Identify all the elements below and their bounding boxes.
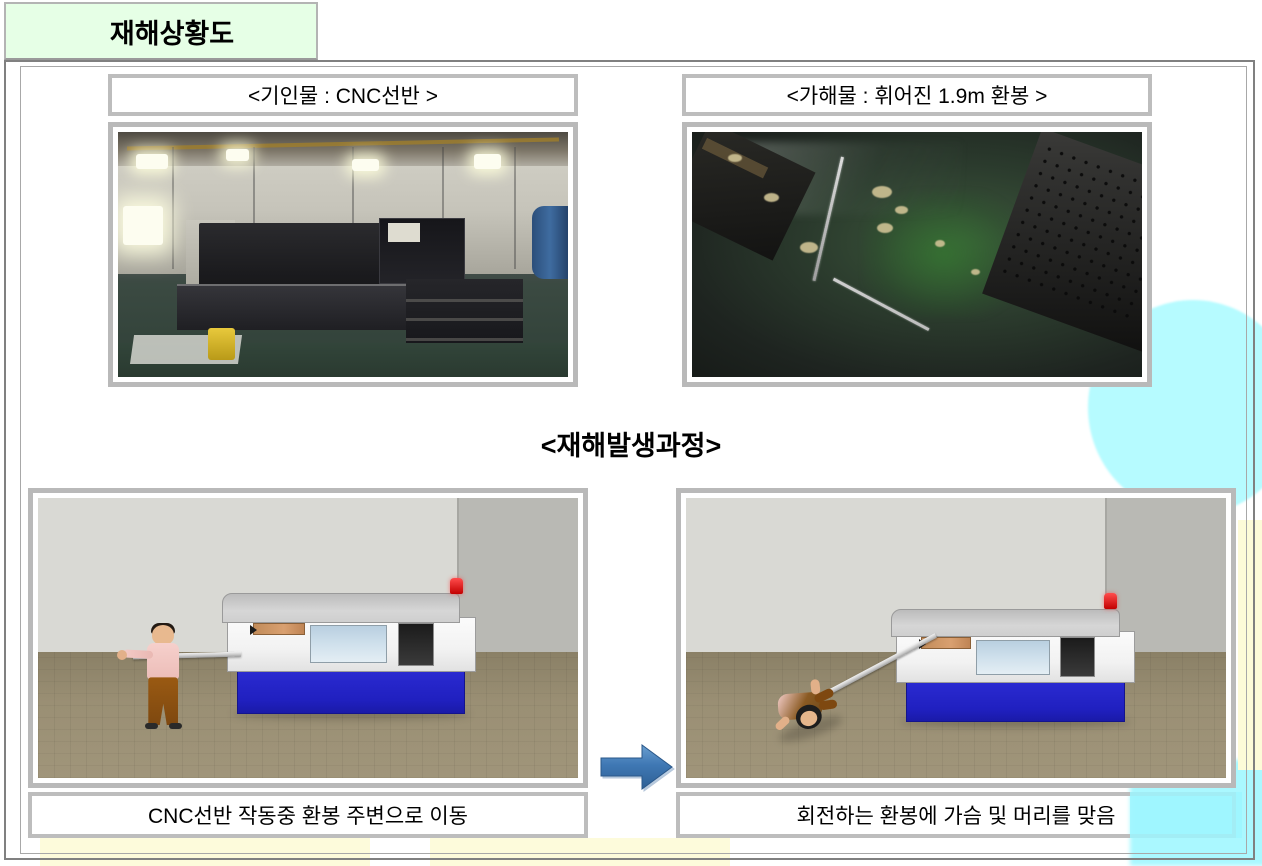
scene-worker-struck-fallen xyxy=(676,488,1236,788)
sequence-heading: <재해발생과정> xyxy=(0,424,1262,463)
right-arrow-icon xyxy=(598,742,676,792)
bent-round-bar-photo xyxy=(682,122,1152,387)
evidence-caption-text: <가해물 : 휘어진 1.9m 환봉 > xyxy=(787,80,1048,110)
evidence-caption-harmful-object: <가해물 : 휘어진 1.9m 환봉 > xyxy=(682,74,1152,116)
worker-figure-standing xyxy=(143,625,185,731)
accident-diagram-page: 재해상황도 <기인물 : CNC선반 > xyxy=(0,0,1262,866)
sequence-step-caption-text: 회전하는 환봉에 가슴 및 머리를 맞음 xyxy=(797,800,1116,830)
sequence-step-1-caption: CNC선반 작동중 환봉 주변으로 이동 xyxy=(28,792,588,838)
decorative-cyan-overlay xyxy=(1130,792,1242,838)
factory-cnc-lathe-photo xyxy=(108,122,578,387)
page-title-tab: 재해상황도 xyxy=(4,2,318,60)
scene-worker-approaching-lathe xyxy=(28,488,588,788)
evidence-caption-cause-object: <기인물 : CNC선반 > xyxy=(108,74,578,116)
page-title: 재해상황도 xyxy=(88,12,234,51)
evidence-caption-text: <기인물 : CNC선반 > xyxy=(248,80,438,110)
sequence-step-caption-text: CNC선반 작동중 환봉 주변으로 이동 xyxy=(148,800,468,830)
